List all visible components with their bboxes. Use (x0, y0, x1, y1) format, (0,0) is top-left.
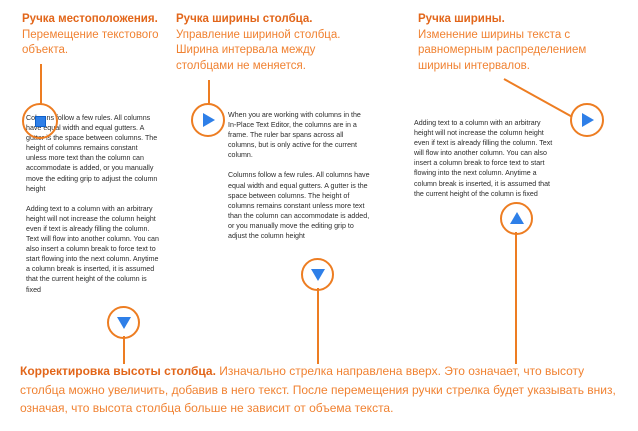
leader-line-column-width-handle (208, 80, 210, 104)
blue-square-handle-icon[interactable] (35, 116, 46, 127)
leader-line-location-handle (40, 64, 42, 104)
blue-up-triangle-icon[interactable] (509, 211, 525, 226)
height-handle-down-left-marker[interactable] (107, 306, 140, 339)
column-2-paragraph-1: When you are working with columns in the… (228, 110, 370, 160)
callout-width-handle-title: Ручка ширины. (418, 12, 618, 28)
column-1-paragraph-2: Adding text to a column with an arbitrar… (26, 204, 159, 295)
blue-down-triangle-icon[interactable] (310, 267, 326, 282)
callout-column-width-handle-body: Управление шириной столбца. Ширина интер… (176, 28, 358, 75)
leader-line-height-left (123, 336, 125, 364)
bottom-caption: Корректировка высоты столбца. Изначально… (20, 362, 620, 418)
height-handle-down-middle-marker[interactable] (301, 258, 334, 291)
callout-location-handle-body: Перемещение текстового объекта. (22, 28, 174, 59)
location-handle-marker[interactable] (22, 103, 58, 139)
leader-line-width-handle (504, 78, 573, 118)
column-3-paragraph-1: Adding text to a column with an arbitrar… (414, 118, 555, 199)
text-column-2: When you are working with columns in the… (228, 110, 370, 251)
callout-width-handle: Ручка ширины. Изменение ширины текста с … (418, 12, 618, 74)
annotated-figure: Ручка местоположения. Перемещение тексто… (0, 0, 638, 431)
text-column-3: Adding text to a column with an arbitrar… (414, 118, 555, 209)
callout-column-width-handle: Ручка ширины столбца. Управление шириной… (176, 12, 358, 74)
leader-line-height-right (515, 232, 517, 364)
width-handle-marker[interactable] (570, 103, 604, 137)
column-2-paragraph-2: Columns follow a few rules. All columns … (228, 170, 370, 241)
blue-down-triangle-icon[interactable] (116, 315, 132, 330)
blue-right-triangle-icon[interactable] (201, 112, 216, 128)
column-width-handle-marker[interactable] (191, 103, 225, 137)
callout-location-handle: Ручка местоположения. Перемещение тексто… (22, 12, 174, 59)
callout-width-handle-body: Изменение ширины текста с равномерным ра… (418, 28, 618, 75)
blue-right-triangle-icon[interactable] (580, 112, 595, 128)
leader-line-height-middle (317, 288, 319, 364)
height-handle-up-right-marker[interactable] (500, 202, 533, 235)
callout-column-width-handle-title: Ручка ширины столбца. (176, 12, 358, 28)
bottom-caption-title: Корректировка высоты столбца. (20, 364, 216, 378)
callout-location-handle-title: Ручка местоположения. (22, 12, 174, 28)
text-column-1: Columns follow a few rules. All columns … (26, 113, 159, 305)
